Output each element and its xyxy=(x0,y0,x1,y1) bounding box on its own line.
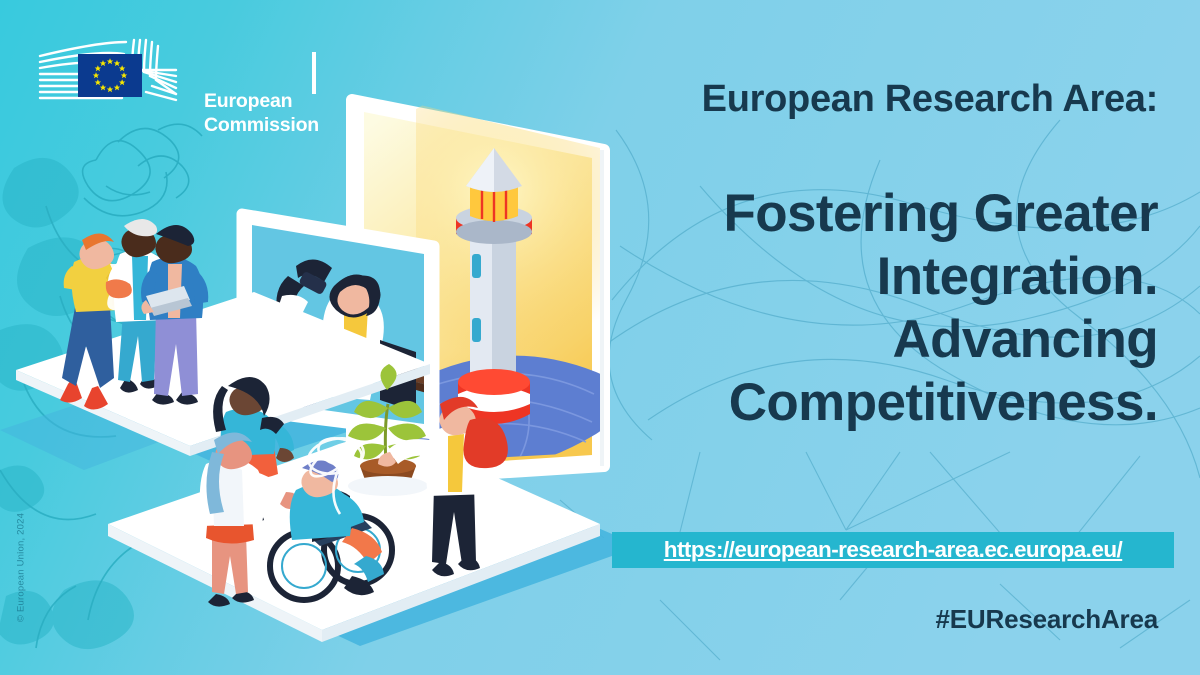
headline-line-3: Advancing xyxy=(518,308,1158,371)
poster-canvas: EuropeanCommission European Research Are… xyxy=(0,0,1200,675)
logo-line-2: Commission xyxy=(204,114,319,136)
kicker-title: European Research Area: xyxy=(702,78,1158,121)
hashtag: #EUResearchArea xyxy=(936,604,1158,635)
headline: Fostering Greater Integration. Advancing… xyxy=(518,182,1158,434)
headline-line-2: Integration. xyxy=(518,245,1158,308)
headline-line-1: Fostering Greater xyxy=(518,182,1158,245)
logo-line-1: European xyxy=(204,90,292,112)
website-url-banner[interactable]: https://european-research-area.ec.europa… xyxy=(612,532,1174,568)
website-url-text[interactable]: https://european-research-area.ec.europa… xyxy=(664,537,1122,563)
copyright-notice: © European Union, 2024 xyxy=(16,498,27,638)
headline-line-4: Competitiveness. xyxy=(518,371,1158,434)
logo-wordmark: EuropeanCommission xyxy=(204,90,319,137)
european-commission-logo: EuropeanCommission xyxy=(26,38,326,110)
